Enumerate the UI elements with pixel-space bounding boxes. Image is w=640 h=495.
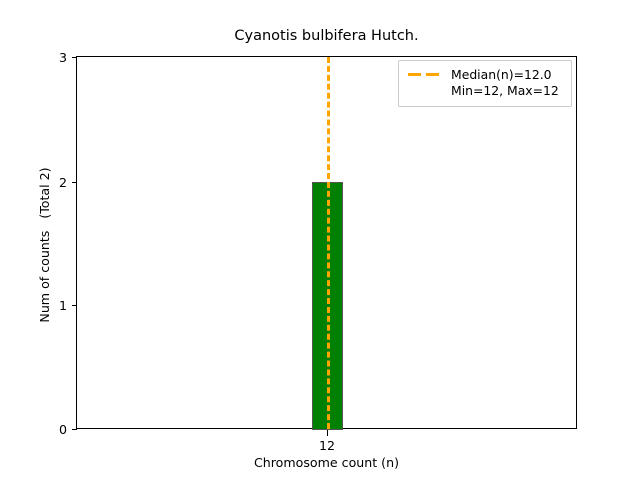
- y-axis-label: Num of counts (Total 2): [37, 167, 52, 322]
- legend-median-label: Median(n)=12.0: [451, 67, 559, 83]
- y-axis-label-wrapper: Num of counts (Total 2): [34, 0, 54, 495]
- median-line: [327, 57, 330, 429]
- figure-canvas: Cyanotis bulbifera Hutch. 0 1 2 3 12 Med…: [0, 0, 640, 480]
- x-axis-label: Chromosome count (n): [76, 455, 577, 470]
- page-title: Cyanotis bulbifera Hutch.: [76, 28, 577, 44]
- legend-minmax-label: Min=12, Max=12: [451, 83, 559, 99]
- y-tick-mark-0: [72, 429, 78, 430]
- plot-area: 0 1 2 3 12: [76, 56, 577, 429]
- dashed-line-icon: [407, 67, 443, 83]
- x-tick-label-12: 12: [287, 438, 367, 453]
- legend-item-text: Median(n)=12.0 Min=12, Max=12: [451, 67, 559, 99]
- x-tick-mark-12: [327, 430, 328, 436]
- y-tick-mark-2: [72, 182, 78, 183]
- legend[interactable]: Median(n)=12.0 Min=12, Max=12: [398, 60, 572, 107]
- y-tick-mark-3: [72, 57, 78, 58]
- y-tick-mark-1: [72, 305, 78, 306]
- legend-item-median: Median(n)=12.0 Min=12, Max=12: [407, 67, 563, 99]
